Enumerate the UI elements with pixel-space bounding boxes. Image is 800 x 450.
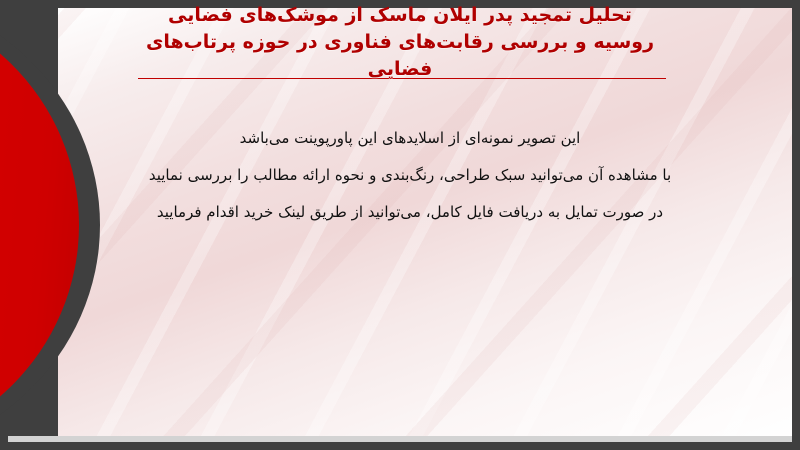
body-line-3: در صورت تمایل به دریافت فایل کامل، می‌تو… [90, 194, 730, 231]
slide-title: تحلیل تمجید پدر ایلان ماسک از موشک‌های ف… [60, 2, 740, 83]
body-line-1: این تصویر نمونه‌ای از اسلایدهای این پاور… [90, 120, 730, 157]
slide-footer-inner-strip [8, 436, 792, 442]
title-line-3: فضایی [60, 56, 740, 83]
body-line-2: با مشاهده آن می‌توانید سبک طراحی، رنگ‌بن… [90, 157, 730, 194]
title-line-1: تحلیل تمجید پدر ایلان ماسک از موشک‌های ف… [60, 2, 740, 29]
slide-body-text: این تصویر نمونه‌ای از اسلایدهای این پاور… [90, 120, 730, 231]
title-line-2: روسیه و بررسی رقابت‌های فناوری در حوزه پ… [60, 29, 740, 56]
presentation-slide: تحلیل تمجید پدر ایلان ماسک از موشک‌های ف… [0, 0, 800, 450]
